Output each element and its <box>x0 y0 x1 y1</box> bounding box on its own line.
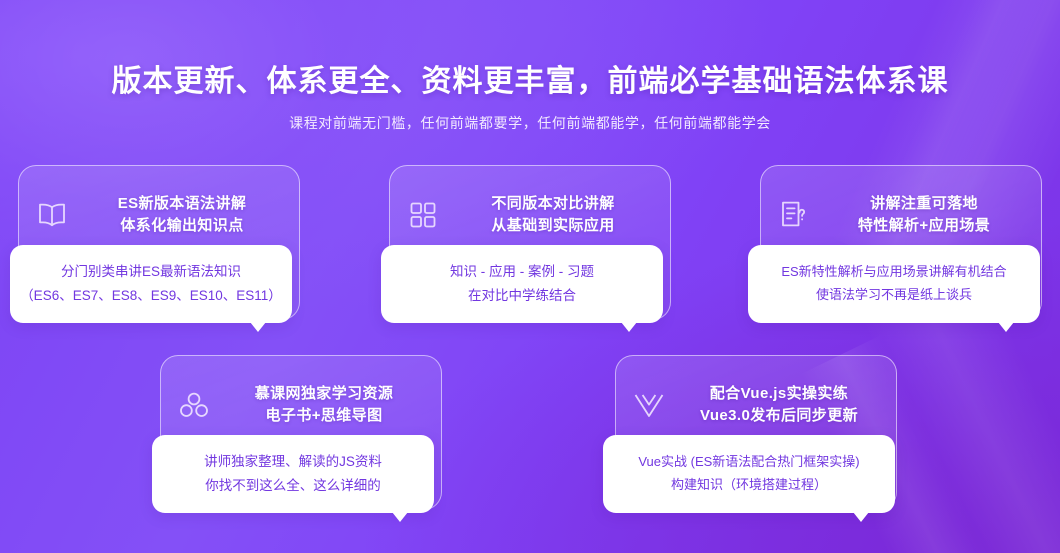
feature-card-3-header: 讲解注重可落地 特性解析+应用场景 <box>760 179 1042 251</box>
feature-card-2-body-line2: 在对比中学练结合 <box>468 284 576 308</box>
open-book-icon <box>36 198 68 232</box>
feature-card-4-body-line2: 你找不到这么全、这么详细的 <box>205 474 381 498</box>
banner-header: 版本更新、体系更全、资料更丰富，前端必学基础语法体系课 课程对前端无门槛，任何前… <box>0 0 1060 133</box>
feature-card-2-title-line2: 从基础到实际应用 <box>451 215 655 237</box>
feature-card-2-body-line1: 知识 - 应用 - 案例 - 习题 <box>450 260 594 284</box>
feature-card-1-body-line2: （ES6、ES7、ES8、ES9、ES10、ES11） <box>20 284 282 308</box>
feature-card-5-body-line1: Vue实战 (ES新语法配合热门框架实操) <box>638 451 859 474</box>
feature-card-1-bubble: 分门别类串讲ES最新语法知识 （ES6、ES7、ES8、ES9、ES10、ES1… <box>10 245 292 323</box>
three-circles-mindmap-icon <box>178 388 210 422</box>
feature-card-4-title-line2: 电子书+思维导图 <box>222 405 426 427</box>
feature-card-3-title: 讲解注重可落地 特性解析+应用场景 <box>822 193 1042 237</box>
feature-card-3-bubble: ES新特性解析与应用场景讲解有机结合 使语法学习不再是纸上谈兵 <box>748 245 1040 323</box>
feature-card-5-bubble: Vue实战 (ES新语法配合热门框架实操) 构建知识（环境搭建过程） <box>603 435 895 513</box>
vue-logo-icon <box>633 388 665 422</box>
feature-card-3-body-line1: ES新特性解析与应用场景讲解有机结合 <box>781 261 1006 284</box>
feature-card-1-body-line1: 分门别类串讲ES最新语法知识 <box>61 260 241 284</box>
feature-card-5-body-line2: 构建知识（环境搭建过程） <box>671 474 827 497</box>
feature-card-5-title-line1: 配合Vue.js实操实练 <box>677 383 881 405</box>
feature-card-3-body-line2: 使语法学习不再是纸上谈兵 <box>816 284 972 307</box>
feature-card-1-title-line1: ES新版本语法讲解 <box>80 193 284 215</box>
feature-card-2-title: 不同版本对比讲解 从基础到实际应用 <box>451 193 671 237</box>
page-title: 版本更新、体系更全、资料更丰富，前端必学基础语法体系课 <box>0 56 1060 100</box>
feature-card-4-title: 慕课网独家学习资源 电子书+思维导图 <box>222 383 442 427</box>
grid-squares-icon <box>407 198 439 232</box>
feature-card-2-title-line1: 不同版本对比讲解 <box>451 193 655 215</box>
feature-card-3-title-line1: 讲解注重可落地 <box>822 193 1026 215</box>
feature-card-5-title-line2: Vue3.0发布后同步更新 <box>677 405 881 427</box>
feature-card-4-bubble: 讲师独家整理、解读的JS资料 你找不到这么全、这么详细的 <box>152 435 434 513</box>
feature-card-1-header: ES新版本语法讲解 体系化输出知识点 <box>18 179 300 251</box>
document-question-icon <box>778 198 810 232</box>
feature-card-4-header: 慕课网独家学习资源 电子书+思维导图 <box>160 369 442 441</box>
feature-card-1-title-line2: 体系化输出知识点 <box>80 215 284 237</box>
feature-card-5-title: 配合Vue.js实操实练 Vue3.0发布后同步更新 <box>677 383 897 427</box>
feature-card-2-header: 不同版本对比讲解 从基础到实际应用 <box>389 179 671 251</box>
feature-card-1-title: ES新版本语法讲解 体系化输出知识点 <box>80 193 300 237</box>
feature-card-4-body-line1: 讲师独家整理、解读的JS资料 <box>204 450 382 474</box>
feature-card-4-title-line1: 慕课网独家学习资源 <box>222 383 426 405</box>
feature-card-5-header: 配合Vue.js实操实练 Vue3.0发布后同步更新 <box>615 369 897 441</box>
feature-card-2-bubble: 知识 - 应用 - 案例 - 习题 在对比中学练结合 <box>381 245 663 323</box>
feature-card-3-title-line2: 特性解析+应用场景 <box>822 215 1026 237</box>
page-subtitle: 课程对前端无门槛，任何前端都要学，任何前端都能学，任何前端都能学会 <box>0 113 1060 133</box>
